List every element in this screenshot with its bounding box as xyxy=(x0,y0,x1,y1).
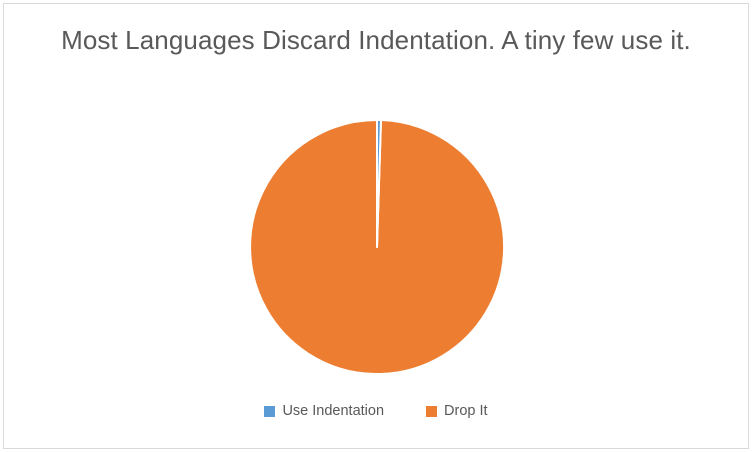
legend-swatch-orange-icon xyxy=(426,406,437,417)
legend-label-use-indentation: Use Indentation xyxy=(282,402,384,420)
chart-canvas: Most Languages Discard Indentation. A ti… xyxy=(0,0,752,452)
pie-chart xyxy=(248,118,506,376)
chart-legend: Use Indentation Drop It xyxy=(0,402,752,420)
legend-label-drop-it: Drop It xyxy=(444,402,488,420)
legend-item-use-indentation[interactable]: Use Indentation xyxy=(264,402,384,420)
plot-area xyxy=(0,0,752,452)
legend-swatch-blue-icon xyxy=(264,406,275,417)
legend-item-drop-it[interactable]: Drop It xyxy=(426,402,488,420)
